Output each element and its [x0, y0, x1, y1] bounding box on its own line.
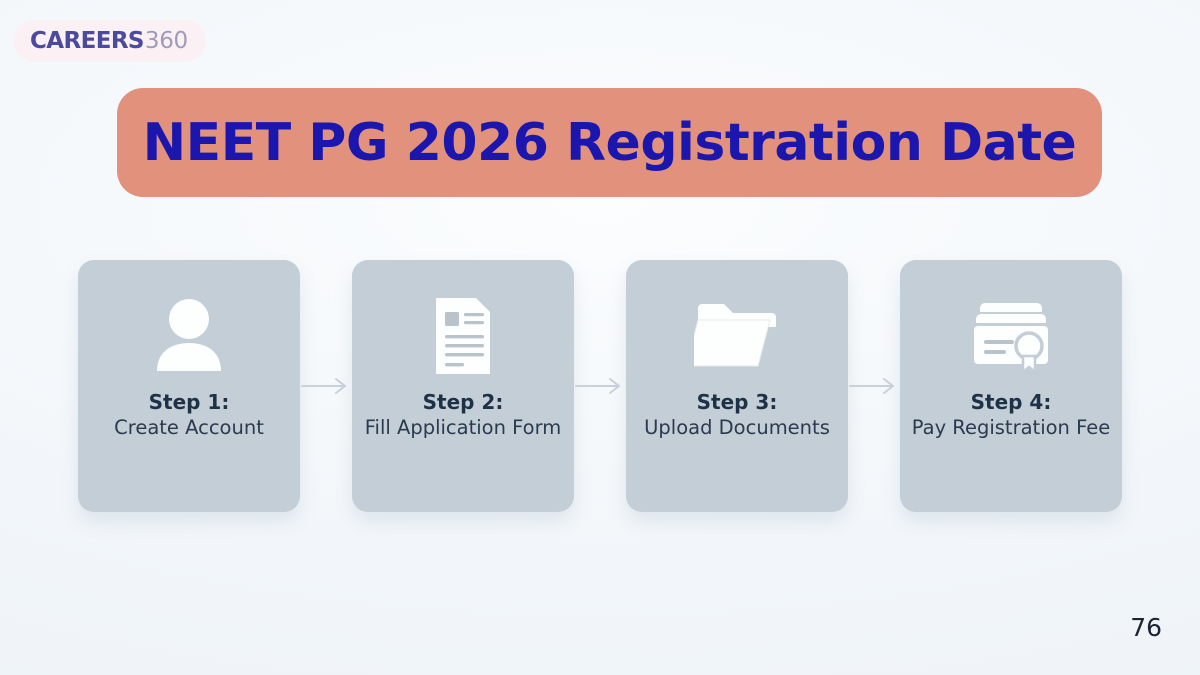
user-account-icon — [152, 294, 226, 378]
arrow-right-icon — [300, 260, 352, 512]
document-form-icon — [428, 294, 498, 378]
logo-text-360: 360 — [145, 28, 188, 54]
step-1-heading: Step 1: — [114, 390, 264, 414]
logo-text-careers: CAREERS — [30, 28, 144, 54]
step-3-labels: Step 3: Upload Documents — [644, 390, 830, 439]
step-1-description: Create Account — [114, 416, 264, 439]
page-number: 76 — [1130, 613, 1162, 642]
step-2-description: Fill Application Form — [365, 416, 562, 439]
folder-upload-icon — [694, 294, 780, 378]
page-title: NEET PG 2026 Registration Date — [143, 117, 1077, 169]
step-4-labels: Step 4: Pay Registration Fee — [912, 390, 1111, 439]
step-card-3[interactable]: Step 3: Upload Documents — [626, 260, 848, 512]
title-banner: NEET PG 2026 Registration Date — [117, 88, 1102, 197]
step-4-heading: Step 4: — [912, 390, 1111, 414]
slide-canvas: CAREERS 360 NEET PG 2026 Registration Da… — [0, 0, 1200, 675]
step-3-description: Upload Documents — [644, 416, 830, 439]
step-1-labels: Step 1: Create Account — [114, 390, 264, 439]
payment-card-seal-icon — [966, 294, 1056, 378]
step-2-labels: Step 2: Fill Application Form — [365, 390, 562, 439]
careers360-logo: CAREERS 360 — [14, 20, 206, 62]
step-card-1[interactable]: Step 1: Create Account — [78, 260, 300, 512]
step-card-4[interactable]: Step 4: Pay Registration Fee — [900, 260, 1122, 512]
arrow-right-icon — [848, 260, 900, 512]
step-4-description: Pay Registration Fee — [912, 416, 1111, 439]
step-3-heading: Step 3: — [644, 390, 830, 414]
steps-flow: Step 1: Create Account — [78, 260, 1122, 512]
step-2-heading: Step 2: — [365, 390, 562, 414]
arrow-right-icon — [574, 260, 626, 512]
step-card-2[interactable]: Step 2: Fill Application Form — [352, 260, 574, 512]
